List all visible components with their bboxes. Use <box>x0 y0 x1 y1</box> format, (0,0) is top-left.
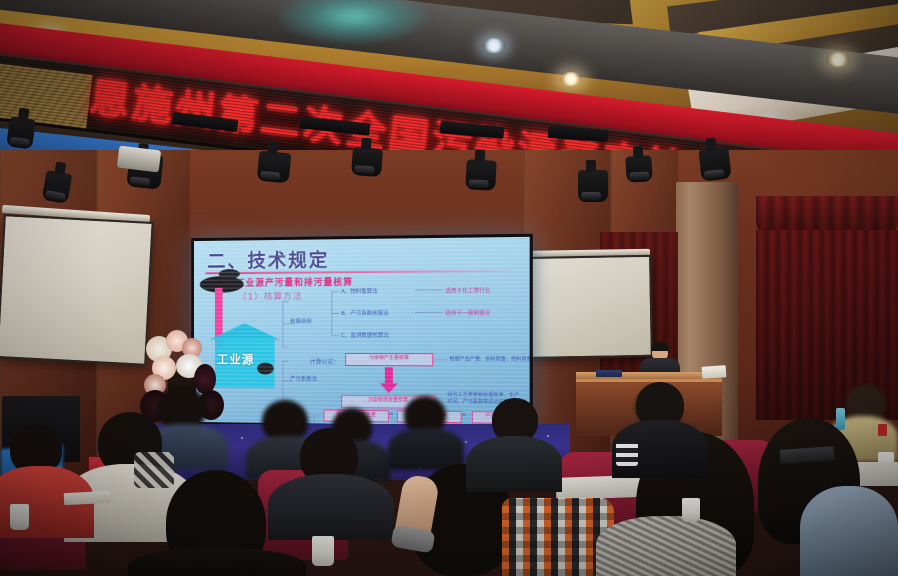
stage-light-fixture <box>625 155 652 182</box>
slide-bullet-c: C、监测数据核算法 <box>341 331 389 339</box>
stage-light-fixture <box>578 170 608 202</box>
ceiling-downlight <box>826 52 850 67</box>
branch-label-bottom: 产污系数法 <box>290 375 317 383</box>
formula-label: 计算公式： <box>310 357 340 366</box>
slide-note-a: 适用于化工等行业 <box>445 286 490 294</box>
audience-badge <box>878 424 887 436</box>
ceiling-downlight <box>482 38 506 53</box>
audience-shoulders <box>466 436 562 492</box>
podium-paper <box>702 365 727 379</box>
audience-shoulders <box>128 548 306 576</box>
paper-cup <box>312 536 334 566</box>
notebook <box>64 491 111 505</box>
audience-shoulders <box>388 428 464 470</box>
paper-cup <box>682 498 700 522</box>
audience-shoulders <box>596 516 736 576</box>
stage-light-fixture <box>257 151 291 184</box>
paper-cup <box>10 504 29 530</box>
audience-shoulders <box>268 474 394 540</box>
stage-light-fixture <box>351 147 383 177</box>
stage-light-fixture <box>698 147 731 182</box>
slide-section-b: （1）核算方法 <box>238 289 303 302</box>
equals-sign: = <box>389 411 394 417</box>
stage-light-fixture <box>465 159 497 191</box>
formula-box-top: 污染物产生量核算 <box>345 353 433 366</box>
flow-arrow-icon <box>385 367 393 383</box>
presenter-hair <box>651 342 669 351</box>
scarf-pattern <box>134 452 174 488</box>
slide-bullet-a: A、物料衡算法 <box>341 287 378 295</box>
sleeve-stripes <box>616 442 638 466</box>
branch-label-top: 核算原则 <box>290 317 312 325</box>
left-projection-screen <box>0 214 154 366</box>
waste-blob-icon <box>257 363 273 375</box>
stage-light-fixture <box>6 116 36 149</box>
audience-shoulders <box>800 486 898 576</box>
slide-note-b: 适用于一般制造业 <box>445 309 490 317</box>
formula-note-top: 根据产品产量、原料用量、燃料用量 <box>449 355 531 362</box>
water-bottle <box>836 408 845 430</box>
slide-bullet-b: B、产污系数核算法 <box>341 309 389 317</box>
ceiling-downlight <box>560 72 582 86</box>
times-sign: × <box>462 412 467 418</box>
podium-paper <box>596 370 622 377</box>
conference-hall-photo: 恩施州第二次全国污染源普查技术培训暨入户调查推进会 二、技术规定 A、工业源产污… <box>0 0 898 576</box>
main-led-screen: 二、技术规定 A、工业源产污量和排污量核算 （1）核算方法 工业源 核算原则 产… <box>191 234 533 430</box>
